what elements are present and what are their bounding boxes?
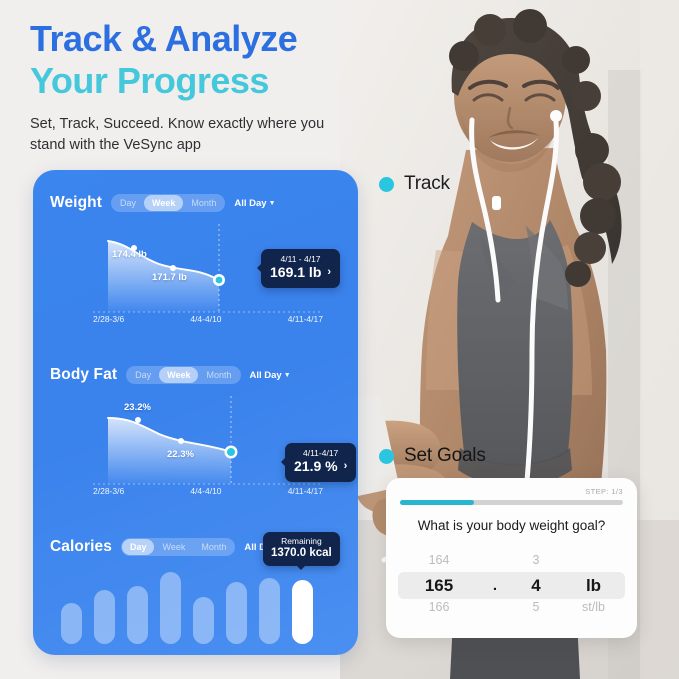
chevron-right-icon[interactable]: › <box>327 266 331 280</box>
body-fat-card: Body Fat Day Week Month All Day ▼ <box>33 356 358 524</box>
weight-axis-tick-2: 4/4-4/10 <box>190 314 221 324</box>
calories-bar[interactable] <box>127 586 148 644</box>
weight-tooltip-value-row: 169.1 lb › <box>270 264 331 282</box>
calories-segment-week[interactable]: Week <box>154 539 193 555</box>
body-fat-segment-day[interactable]: Day <box>127 367 159 383</box>
weight-axis-tick-3: 4/11-4/17 <box>288 314 323 324</box>
calories-range-segmented-control[interactable]: Day Week Month <box>121 538 235 556</box>
calories-card: Calories Day Week Month All Day ▼ Remain… <box>33 528 358 655</box>
weight-point-label-1: 174.4 lb <box>112 249 147 260</box>
picker-unit-selected[interactable]: lb <box>562 572 625 599</box>
picker-row-below[interactable]: 166 5 st/lb <box>398 600 625 614</box>
body-fat-segment-week[interactable]: Week <box>159 367 198 383</box>
weight-segment-month[interactable]: Month <box>183 195 224 211</box>
body-fat-tooltip-range: 4/11-4/17 <box>294 448 347 458</box>
body-fat-axis-tick-1: 2/28-3/6 <box>93 486 124 496</box>
body-fat-axis-tick-3: 4/11-4/17 <box>288 486 323 496</box>
weight-allday-label: All Day <box>234 198 266 209</box>
headline-line-1: Track & Analyze <box>30 18 360 60</box>
chevron-down-icon: ▼ <box>284 372 291 379</box>
step-indicator: STEP: 1/3 <box>585 487 623 496</box>
progress-bar-track <box>400 500 623 505</box>
picker-decimal-separator: . <box>480 572 510 599</box>
goal-setup-panel: STEP: 1/3 What is your body weight goal?… <box>386 478 637 638</box>
headline-line-2: Your Progress <box>30 60 360 102</box>
body-fat-axis-labels: 2/28-3/6 4/4-4/10 4/11-4/17 <box>93 486 323 496</box>
subheadline: Set, Track, Succeed. Know exactly where … <box>30 114 360 155</box>
weight-allday-dropdown[interactable]: All Day ▼ <box>234 198 275 209</box>
picker-row-above[interactable]: 164 3 <box>398 553 625 567</box>
calories-bar[interactable] <box>226 582 247 644</box>
weight-card: Weight Day Week Month All Day ▼ <box>33 184 358 352</box>
chevron-down-icon: ▼ <box>269 200 276 207</box>
picker-whole-below[interactable]: 166 <box>398 600 480 614</box>
body-fat-point-label-2: 22.3% <box>167 449 194 460</box>
weight-point-label-2: 171.7 lb <box>152 272 187 283</box>
body-fat-allday-dropdown[interactable]: All Day ▼ <box>250 370 291 381</box>
calories-tooltip-label: Remaining <box>271 536 332 546</box>
body-fat-tooltip-value: 21.9 % <box>294 458 338 476</box>
callout-track-label: Track <box>404 173 450 195</box>
calories-bar[interactable] <box>259 578 280 644</box>
body-fat-range-segmented-control[interactable]: Day Week Month <box>126 366 240 384</box>
weight-value-tooltip[interactable]: 4/11 - 4/17 169.1 lb › <box>261 249 340 288</box>
picker-decimal-selected[interactable]: 4 <box>510 572 562 599</box>
weight-segment-week[interactable]: Week <box>144 195 183 211</box>
bullet-dot-icon <box>379 177 394 192</box>
body-fat-allday-label: All Day <box>250 370 282 381</box>
calories-tooltip-value: 1370.0 kcal <box>271 546 332 560</box>
callout-set-goals-label: Set Goals <box>404 445 486 467</box>
calories-segment-day[interactable]: Day <box>122 539 155 555</box>
calories-card-title: Calories <box>50 538 112 556</box>
body-fat-segment-month[interactable]: Month <box>198 367 239 383</box>
weight-range-segmented-control[interactable]: Day Week Month <box>111 194 225 212</box>
chevron-right-icon[interactable]: › <box>344 460 348 474</box>
callout-set-goals: Set Goals <box>379 445 486 467</box>
headline-block: Track & Analyze Your Progress Set, Track… <box>30 18 360 155</box>
body-fat-card-header: Body Fat Day Week Month All Day ▼ <box>50 366 342 384</box>
weight-axis-labels: 2/28-3/6 4/4-4/10 4/11-4/17 <box>93 314 323 324</box>
calories-bar[interactable] <box>160 572 181 644</box>
calories-bar[interactable] <box>193 597 214 644</box>
bullet-dot-icon <box>379 449 394 464</box>
weight-chart: 174.4 lb 171.7 lb 2/28-3/6 4/4-4/10 4/11… <box>33 222 358 332</box>
picker-decimal-above[interactable]: 3 <box>510 553 562 567</box>
weight-segment-day[interactable]: Day <box>112 195 144 211</box>
calories-bar[interactable] <box>61 603 82 644</box>
calories-bar-selected[interactable] <box>292 580 313 644</box>
calories-bar-chart <box>61 570 331 644</box>
weight-card-title: Weight <box>50 194 102 212</box>
picker-whole-selected[interactable]: 165 <box>398 572 480 599</box>
calories-segment-month[interactable]: Month <box>193 539 234 555</box>
picker-row-selected[interactable]: 165 . 4 lb <box>398 572 625 599</box>
calories-remaining-tooltip: Remaining 1370.0 kcal <box>263 532 340 566</box>
weight-card-header: Weight Day Week Month All Day ▼ <box>50 194 342 212</box>
body-fat-axis-tick-2: 4/4-4/10 <box>190 486 221 496</box>
body-fat-chart: 23.2% 22.3% 2/28-3/6 4/4-4/10 4/11-4/17 … <box>33 394 358 504</box>
body-fat-value-tooltip[interactable]: 4/11-4/17 21.9 % › <box>285 443 356 482</box>
weight-tooltip-range: 4/11 - 4/17 <box>270 254 331 264</box>
calories-bar[interactable] <box>94 590 115 644</box>
callout-track: Track <box>379 173 450 195</box>
body-fat-tooltip-value-row: 21.9 % › <box>294 458 347 476</box>
body-fat-card-title: Body Fat <box>50 366 117 384</box>
picker-unit-below[interactable]: st/lb <box>562 600 625 614</box>
picker-decimal-below[interactable]: 5 <box>510 600 562 614</box>
progress-bar-fill <box>400 500 474 505</box>
goal-question-text: What is your body weight goal? <box>386 518 637 533</box>
weight-axis-tick-1: 2/28-3/6 <box>93 314 124 324</box>
picker-whole-above[interactable]: 164 <box>398 553 480 567</box>
app-preview-panel: Weight Day Week Month All Day ▼ <box>33 170 358 655</box>
tooltip-notch <box>296 565 306 570</box>
tooltip-notch <box>257 263 262 273</box>
tooltip-notch <box>281 457 286 467</box>
body-fat-point-label-1: 23.2% <box>124 402 151 413</box>
weight-tooltip-value: 169.1 lb <box>270 264 321 282</box>
